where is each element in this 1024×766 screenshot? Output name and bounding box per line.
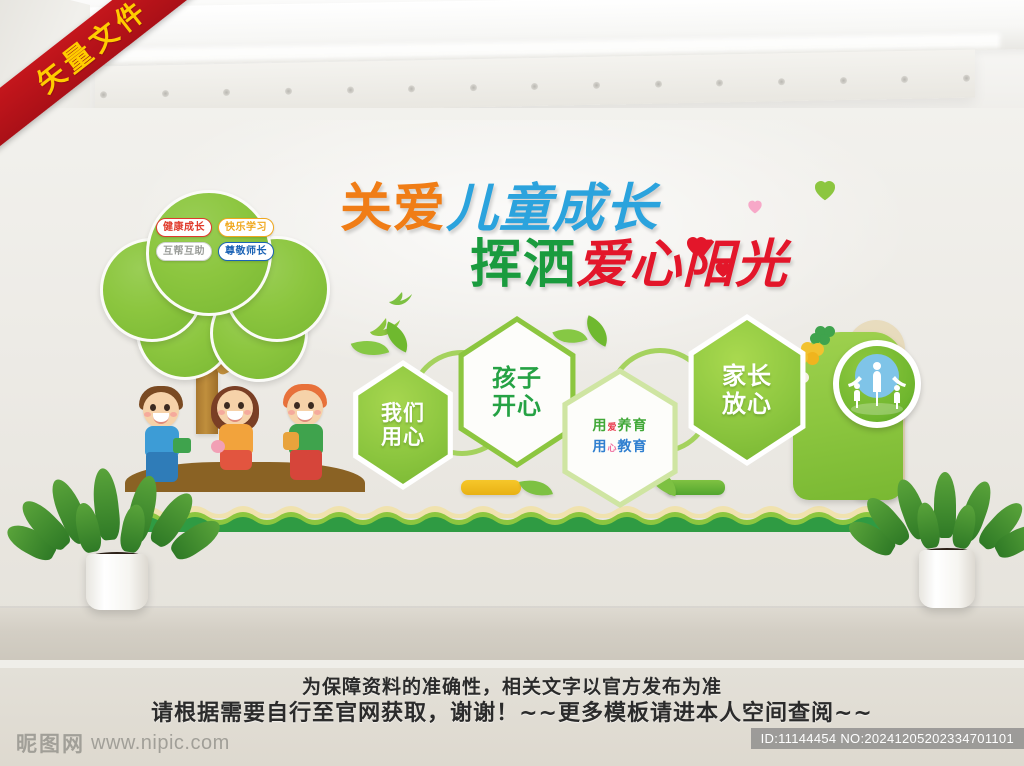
child-figure-boy-red (277, 384, 333, 484)
headline-seg-guanai: 关爱 (340, 180, 446, 238)
child-figure-girl (207, 384, 263, 484)
hexagon-label-line-2: 开心 (492, 392, 542, 420)
hexagon-label: 孩子 开心 (492, 364, 542, 420)
hexagon-jiazhang-fangxin[interactable]: 家长 放心 (679, 314, 815, 466)
downlight-icon (470, 84, 477, 91)
downlight-icon (223, 89, 230, 96)
screenshot-root: 矢量文件 健康成长 快乐学习 互帮互助 尊敬师长 (0, 0, 1024, 766)
cheek (144, 412, 151, 417)
downlight-icon (531, 83, 538, 90)
downlight-icon (963, 75, 970, 82)
eye (238, 402, 244, 409)
eye (308, 402, 314, 409)
sub-line2-prefix: 用 (592, 439, 607, 455)
cheek (314, 410, 321, 415)
hexagon-label-line-2: 放心 (722, 390, 772, 418)
leaf-icon (519, 475, 553, 502)
plant-pot (86, 554, 148, 610)
sub-line2-heart-char: 心 (607, 444, 617, 454)
handbag-icon (211, 440, 225, 453)
hexagon-label: 用爱养育 用心教育 (592, 417, 647, 459)
downlight-icon (285, 88, 292, 95)
tree-badge-group: 健康成长 快乐学习 互帮互助 尊敬师长 (156, 218, 306, 261)
watermark-cn-label: 昵图网 (16, 728, 85, 758)
sub-line2-suffix: 教育 (618, 439, 648, 455)
downlight-icon (347, 86, 354, 93)
leaf-icon (351, 333, 390, 363)
hexagon-label-line-2: 用心 (381, 425, 425, 449)
downlight-icon (100, 91, 107, 98)
downlight-icon (408, 85, 415, 92)
headline-line-1: 关爱儿童成长 (340, 180, 658, 238)
floor-surface (0, 608, 1024, 660)
downlight-icon (901, 76, 908, 83)
cheek (218, 410, 225, 415)
badge-jiankang-chengzhang[interactable]: 健康成长 (156, 218, 212, 237)
downlight-icon (840, 77, 847, 84)
downlight-icon (593, 82, 600, 89)
hexagon-label: 我们 用心 (381, 401, 425, 449)
accent-bar-yellow (461, 480, 521, 495)
pants (290, 450, 322, 480)
badge-hubang-huzhu[interactable]: 互帮互助 (156, 242, 212, 261)
sub-line1-heart-char: 爱 (607, 423, 617, 433)
eye (150, 404, 156, 411)
headline-seg-ertongchengzhang: 儿童成长 (446, 180, 658, 238)
cheek (244, 410, 251, 415)
eye (294, 402, 300, 409)
potted-plant-left (36, 468, 211, 608)
watermark: 昵图网 www.nipic.com (16, 728, 230, 758)
potted-plant-right (880, 470, 1015, 610)
backpack-icon (283, 432, 299, 450)
eye (164, 404, 170, 411)
watermark-url-label: www.nipic.com (91, 732, 230, 755)
hexagon-inner: 家长 放心 (685, 320, 809, 460)
eye (224, 402, 230, 409)
downlight-icon (162, 90, 169, 97)
image-id-bar: ID:11144454 NO:20241205202334701101 (751, 728, 1024, 749)
caption-line-1: 为保障资料的准确性，相关文字以官方发布为准 (0, 668, 1024, 700)
red-heart-large-icon (682, 230, 712, 260)
hexagon-label: 家长 放心 (722, 362, 772, 418)
headline-seg-aixin: 爱心 (576, 236, 682, 294)
leaf-icon (580, 315, 615, 346)
headline-line-2: 挥洒爱心阳光 (470, 236, 788, 294)
downlight-icon (716, 79, 723, 86)
headline-seg-huisa: 挥洒 (470, 236, 576, 294)
badge-kuaile-xuexi[interactable]: 快乐学习 (218, 218, 274, 237)
headline-block: 关爱儿童成长 挥洒爱心阳光 (340, 180, 920, 310)
pink-heart-icon (745, 196, 765, 216)
school-bag-icon (173, 438, 191, 453)
hexagon-row: 我们 用心 孩子 开心 用爱养育 用心教育 (345, 320, 945, 510)
green-heart-icon (810, 174, 840, 204)
wall-art-group: 健康成长 快乐学习 互帮互助 尊敬师长 (95, 170, 935, 530)
sub-line1-suffix: 养育 (618, 418, 648, 434)
hexagon-label-line-1: 家长 (722, 362, 772, 390)
hexagon-label-line-1: 我们 (381, 401, 425, 425)
caption-area: 为保障资料的准确性，相关文字以官方发布为准 请根据需要自行至官网获取，谢谢！~~… (0, 668, 1024, 766)
sub-line1-prefix: 用 (592, 418, 607, 434)
downlight-icon (655, 81, 662, 88)
caption-line-2: 请根据需要自行至官网获取，谢谢！~~更多模板请进本人空间查阅~~ (0, 700, 1024, 728)
skirt (220, 450, 252, 470)
downlight-icon (778, 78, 785, 85)
plant-pot (919, 550, 975, 608)
cheek (288, 410, 295, 415)
hexagon-label-line-1: 孩子 (492, 364, 542, 392)
badge-zunjing-shizhang[interactable]: 尊敬师长 (218, 242, 274, 261)
red-heart-small-icon (712, 258, 734, 280)
cheek (170, 412, 177, 417)
